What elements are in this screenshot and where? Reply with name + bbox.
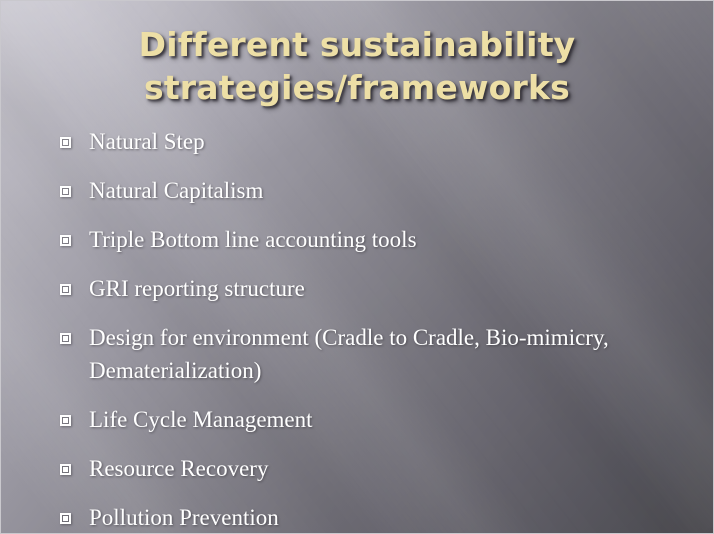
list-item: Life Cycle Management — [57, 403, 687, 436]
list-item-label: Triple Bottom line accounting tools — [89, 223, 687, 256]
list-item-label: GRI reporting structure — [89, 272, 687, 305]
list-item: Design for environment (Cradle to Cradle… — [57, 321, 687, 387]
list-item-label: Resource Recovery — [89, 452, 687, 485]
square-bullet-icon — [60, 513, 71, 524]
slide-title-line-2: strategies/frameworks — [61, 66, 653, 109]
list-item: Resource Recovery — [57, 452, 687, 485]
list-item-label: Life Cycle Management — [89, 403, 687, 436]
square-bullet-icon — [60, 464, 71, 475]
list-item: Natural Step — [57, 125, 687, 158]
slide-bullet-list: Natural Step Natural Capitalism Triple B… — [57, 125, 687, 534]
list-item: Natural Capitalism — [57, 174, 687, 207]
list-item-label: Pollution Prevention — [89, 501, 687, 534]
presentation-slide: Different sustainability strategies/fram… — [0, 0, 714, 534]
list-item: GRI reporting structure — [57, 272, 687, 305]
square-bullet-icon — [60, 186, 71, 197]
square-bullet-icon — [60, 137, 71, 148]
square-bullet-icon — [60, 333, 71, 344]
square-bullet-icon — [60, 235, 71, 246]
slide-content: Different sustainability strategies/fram… — [1, 1, 713, 533]
square-bullet-icon — [60, 284, 71, 295]
list-item-label: Design for environment (Cradle to Cradle… — [89, 321, 687, 387]
square-bullet-icon — [60, 415, 71, 426]
slide-title: Different sustainability strategies/fram… — [1, 23, 713, 109]
list-item: Pollution Prevention — [57, 501, 687, 534]
slide-title-line-1: Different sustainability — [61, 23, 653, 66]
list-item-label: Natural Capitalism — [89, 174, 687, 207]
list-item: Triple Bottom line accounting tools — [57, 223, 687, 256]
list-item-label: Natural Step — [89, 125, 687, 158]
